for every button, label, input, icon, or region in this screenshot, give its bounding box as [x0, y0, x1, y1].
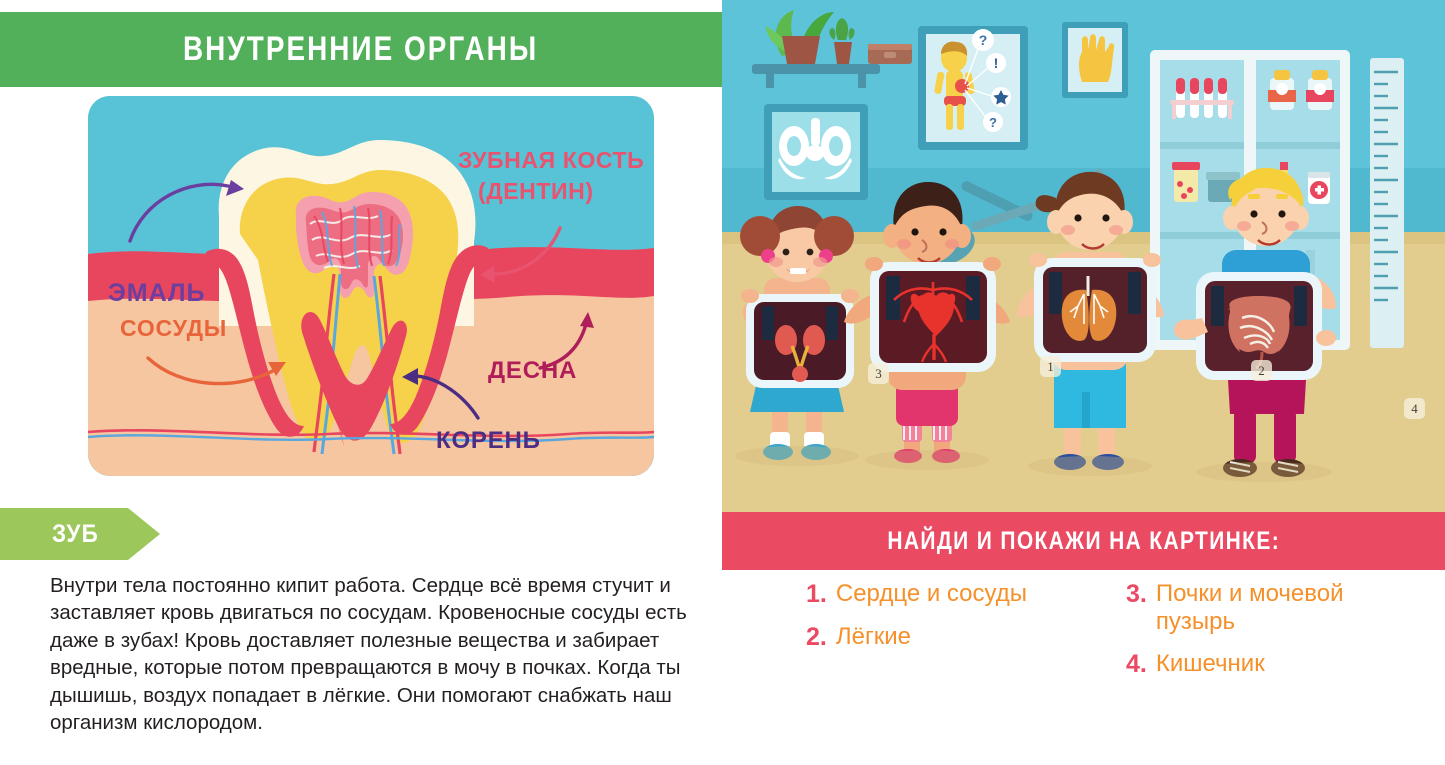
scene-marker-3[interactable]: 3: [868, 363, 889, 384]
page-title: ВНУТРЕННИЕ ОРГАНЫ: [183, 30, 538, 69]
list-item[interactable]: 3. Почки и мочевой пузырь: [1126, 580, 1416, 637]
list-item-number: 1.: [806, 580, 827, 610]
scene-marker-4[interactable]: 4: [1404, 398, 1425, 419]
anatomy-poster: ? ! ?: [918, 26, 1028, 150]
section-tag: ЗУБ: [0, 508, 160, 560]
handprint-poster: [1062, 22, 1128, 98]
label-root: КОРЕНЬ: [436, 427, 541, 454]
scene-marker-1[interactable]: 1: [1040, 356, 1061, 377]
find-and-show-bar: НАЙДИ И ПОКАЖИ НА КАРТИНКЕ:: [722, 512, 1445, 570]
list-item-label: Сердце и сосуды: [836, 580, 1027, 608]
svg-text:!: !: [994, 55, 999, 71]
body-text: Внутри тела постоянно кипит работа. Серд…: [50, 572, 690, 737]
list-item-label: Лёгкие: [836, 623, 911, 651]
list-item-label: Кишечник: [1156, 650, 1265, 678]
find-list-column-left: 1. Сердце и сосуды 2. Лёгкие: [806, 580, 1086, 665]
list-item-number: 3.: [1126, 580, 1147, 610]
height-ruler: [1370, 58, 1404, 348]
svg-text:?: ?: [979, 32, 988, 48]
label-dentin-line2: (ДЕНТИН): [478, 178, 594, 204]
list-item-number: 4.: [1126, 650, 1147, 680]
label-dentin-line1: ЗУБНАЯ КОСТЬ: [458, 147, 644, 173]
label-vessels: СОСУДЫ: [120, 315, 227, 341]
clinic-scene: ? ! ?: [722, 0, 1445, 512]
clinic-scene-svg: ? ! ?: [722, 0, 1445, 512]
xray-poster-pelvis: [764, 104, 868, 200]
find-and-show-list: 1. Сердце и сосуды 2. Лёгкие 3. Почки и …: [722, 580, 1445, 740]
left-page: ВНУТРЕННИЕ ОРГАНЫ: [0, 0, 722, 765]
tooth-diagram: ЭМАЛЬ ЗУБНАЯ КОСТЬ (ДЕНТИН) СОСУДЫ ДЕСНА…: [88, 96, 654, 476]
list-item[interactable]: 4. Кишечник: [1126, 650, 1416, 680]
scene-marker-2[interactable]: 2: [1251, 360, 1272, 381]
book-spread: ВНУТРЕННИЕ ОРГАНЫ: [0, 0, 1445, 765]
section-tag-label: ЗУБ: [52, 508, 99, 560]
list-item-label: Почки и мочевой пузырь: [1156, 580, 1416, 637]
page-header-bar: ВНУТРЕННИЕ ОРГАНЫ: [0, 12, 722, 87]
label-gum: ДЕСНА: [488, 357, 577, 384]
tooth-diagram-svg: ЭМАЛЬ ЗУБНАЯ КОСТЬ (ДЕНТИН) СОСУДЫ ДЕСНА…: [88, 96, 654, 476]
find-list-column-right: 3. Почки и мочевой пузырь 4. Кишечник: [1126, 580, 1416, 692]
find-and-show-title: НАЙДИ И ПОКАЖИ НА КАРТИНКЕ:: [887, 527, 1280, 556]
list-item[interactable]: 2. Лёгкие: [806, 623, 1086, 653]
body-paragraph: Внутри тела постоянно кипит работа. Серд…: [50, 572, 690, 737]
list-item[interactable]: 1. Сердце и сосуды: [806, 580, 1086, 610]
list-item-number: 2.: [806, 623, 827, 653]
label-enamel: ЭМАЛЬ: [108, 279, 205, 307]
svg-text:?: ?: [989, 115, 997, 130]
right-page: ? ! ?: [722, 0, 1445, 765]
